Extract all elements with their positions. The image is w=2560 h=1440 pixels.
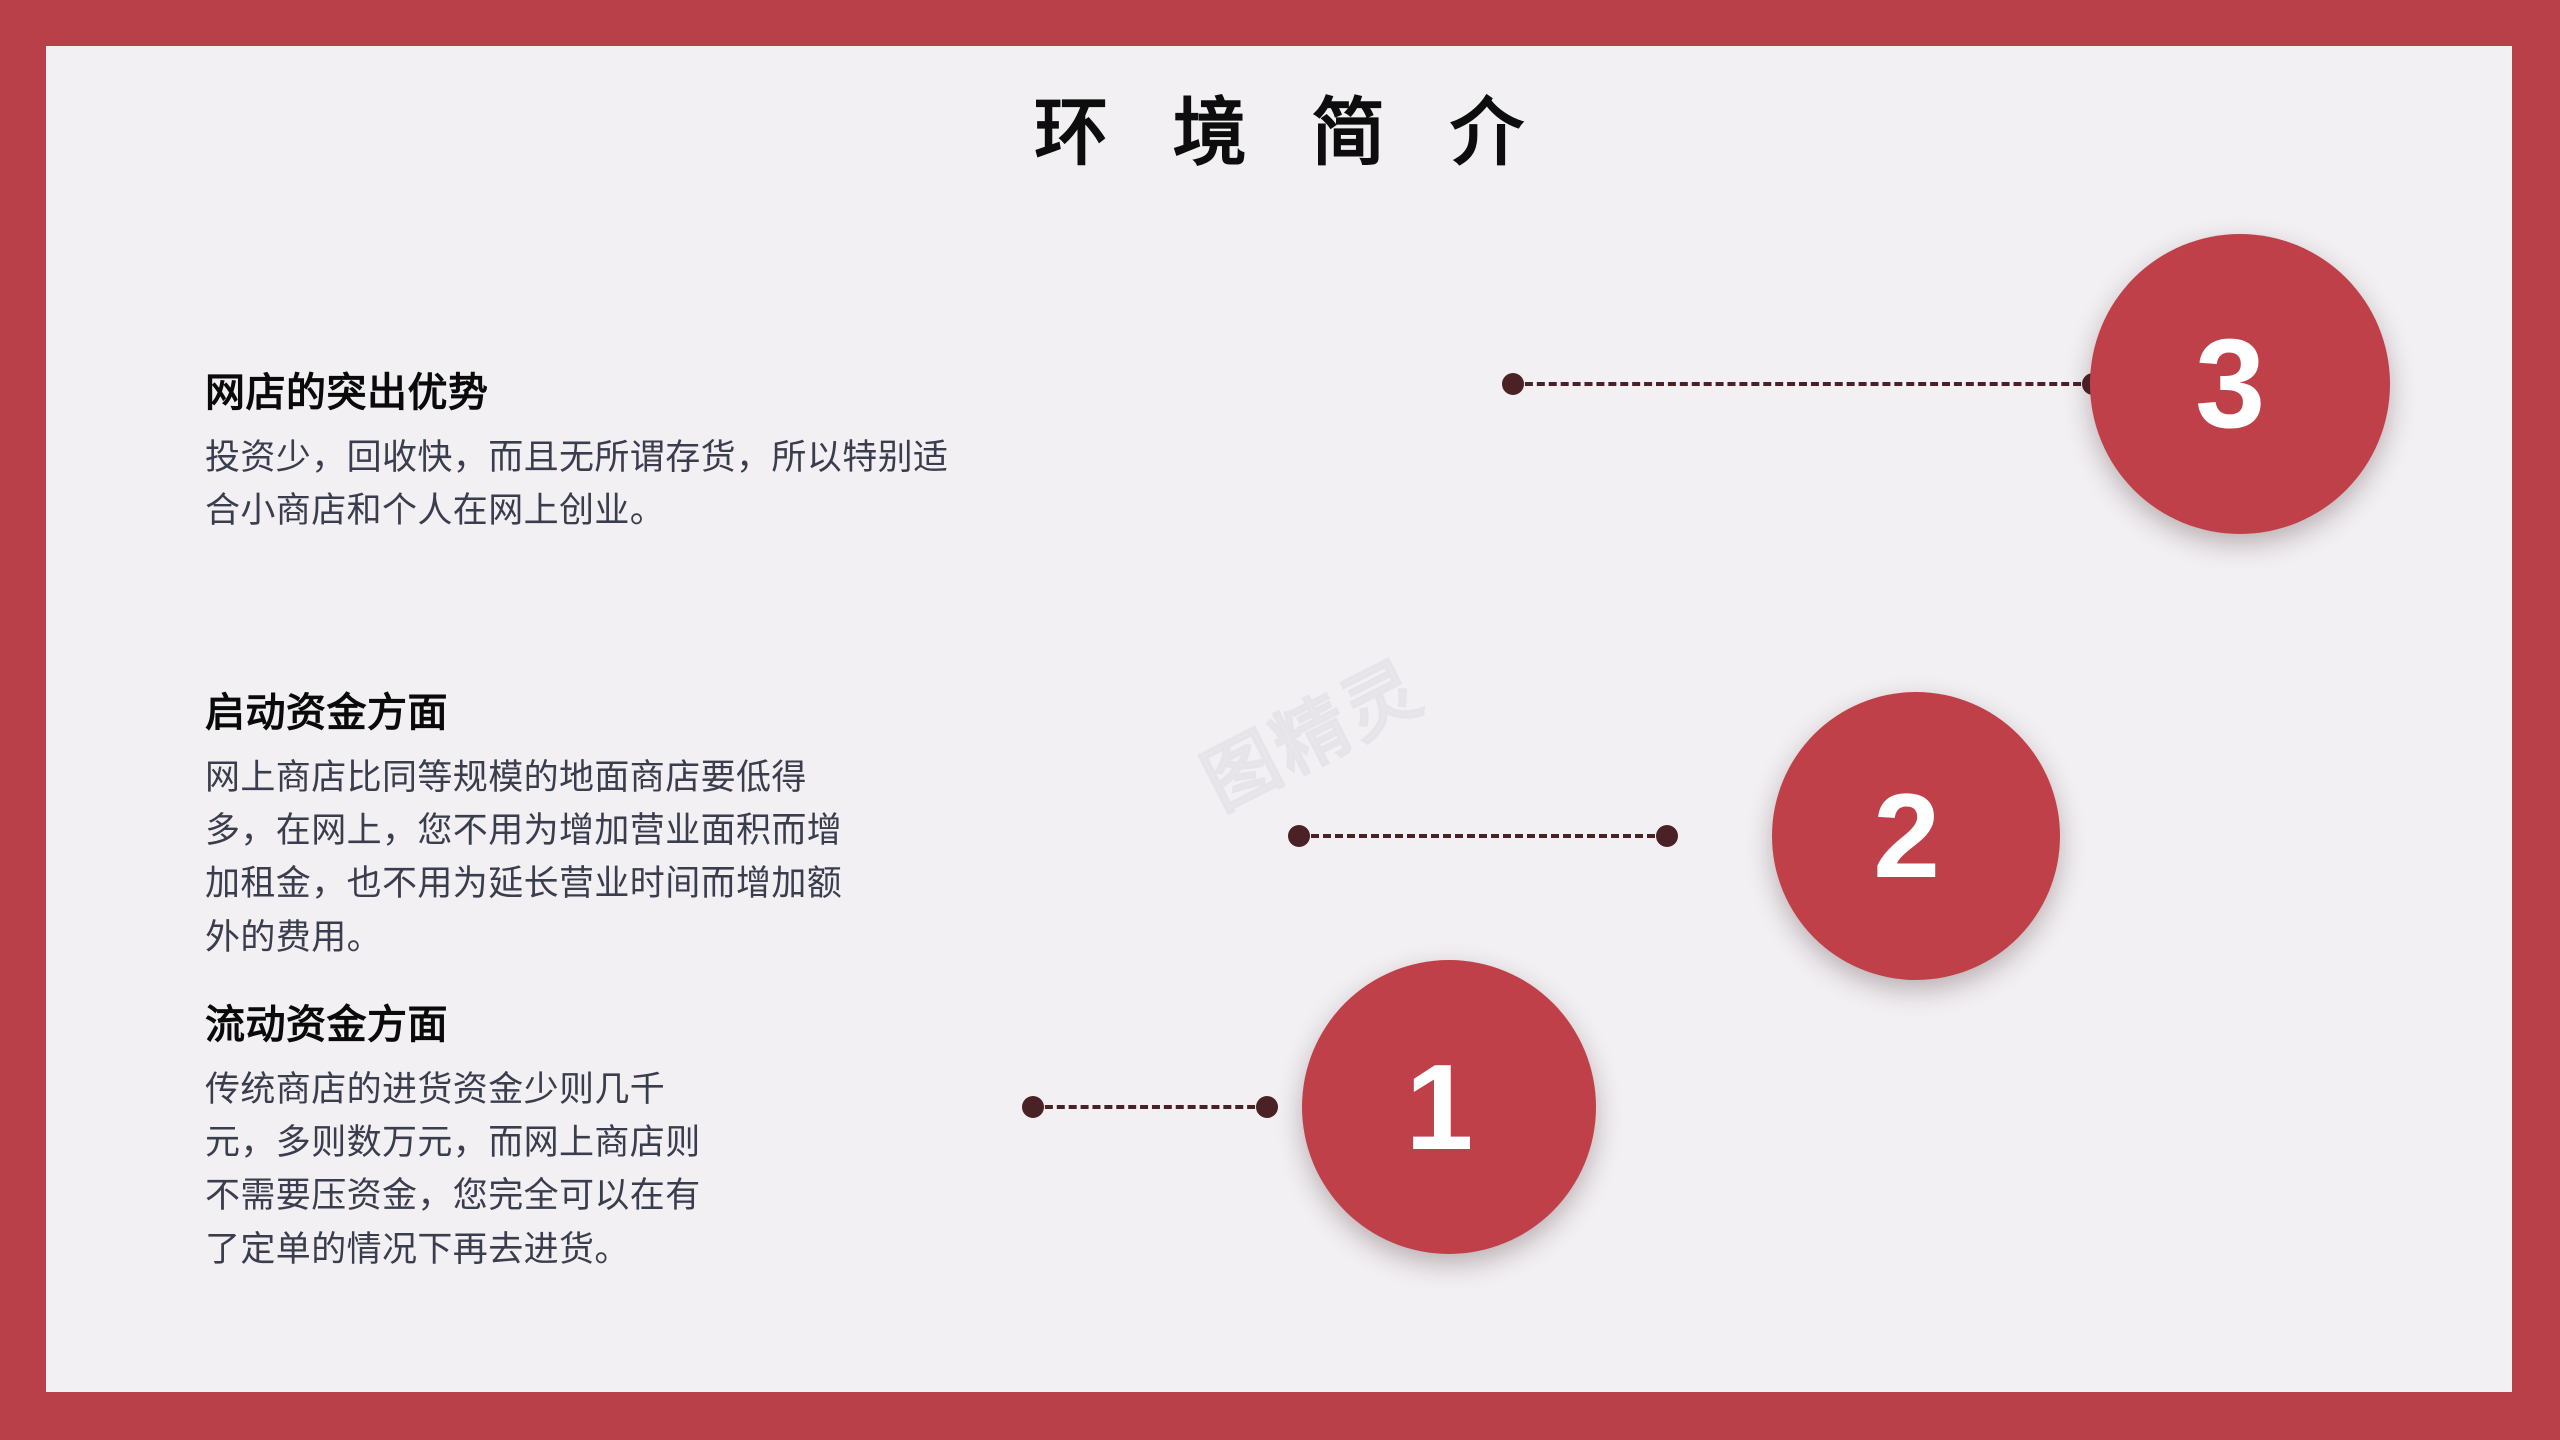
connector-line-1 — [1022, 1096, 1278, 1118]
connector-dot-end-1 — [1256, 1096, 1278, 1118]
dashed-line-2 — [1299, 834, 1667, 838]
slide-panel: 图精灵 环 境 简 介 网店的突出优势 投资少，回收快，而且无所谓存货，所以特别… — [46, 46, 2512, 1392]
connector-line-2 — [1288, 825, 1678, 847]
dashed-line-1 — [1033, 1105, 1267, 1109]
number-circle-label-1: 1 — [1406, 1046, 1474, 1168]
block-heading-3: 网店的突出优势 — [205, 369, 965, 417]
number-circle-label-2: 2 — [1873, 776, 1940, 896]
slide-root: 图精灵 环 境 简 介 网店的突出优势 投资少，回收快，而且无所谓存货，所以特别… — [0, 0, 2560, 1440]
block-body-3: 投资少，回收快，而且无所谓存货，所以特别适合小商店和个人在网上创业。 — [205, 431, 965, 537]
content-block-1: 流动资金方面 传统商店的进货资金少则几千元，多则数万元，而网上商店则不需要压资金… — [205, 1001, 725, 1276]
block-body-1: 传统商店的进货资金少则几千元，多则数万元，而网上商店则不需要压资金，您完全可以在… — [205, 1063, 725, 1276]
block-heading-1: 流动资金方面 — [205, 1001, 725, 1049]
block-heading-2: 启动资金方面 — [205, 689, 845, 737]
number-circle-2[interactable]: 2 — [1772, 692, 2060, 980]
block-body-2: 网上商店比同等规模的地面商店要低得多，在网上，您不用为增加营业面积而增加租金，也… — [205, 751, 845, 964]
connector-dot-end-2 — [1656, 825, 1678, 847]
watermark: 图精灵 — [1191, 618, 1540, 915]
number-circle-3[interactable]: 3 — [2090, 234, 2390, 534]
number-circle-1[interactable]: 1 — [1302, 960, 1596, 1254]
dashed-line-3 — [1513, 382, 2093, 386]
content-block-3: 网店的突出优势 投资少，回收快，而且无所谓存货，所以特别适合小商店和个人在网上创… — [205, 369, 965, 537]
content-block-2: 启动资金方面 网上商店比同等规模的地面商店要低得多，在网上，您不用为增加营业面积… — [205, 689, 845, 964]
connector-line-3 — [1502, 373, 2104, 395]
page-title: 环 境 简 介 — [46, 90, 2512, 175]
number-circle-label-3: 3 — [2195, 321, 2265, 447]
